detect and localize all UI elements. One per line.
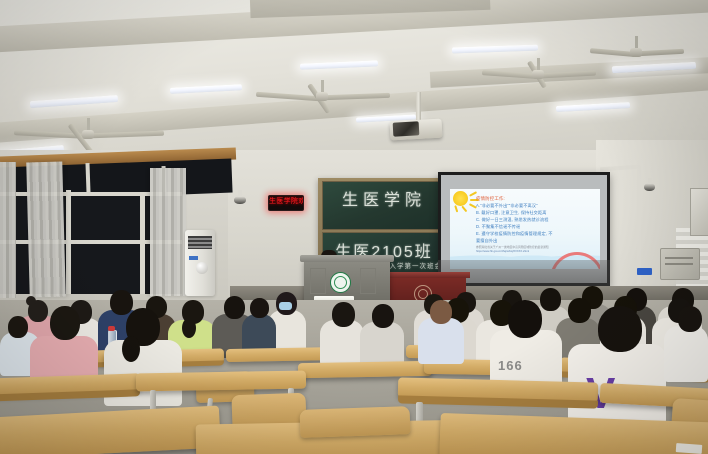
bottle-cap [108,326,115,331]
electrical-box [660,248,700,280]
slide-line: D. 不聚集不信谣不传谣 [476,224,520,230]
slide-line: A.“非必要不外出”“非必要不离汉” [476,203,538,209]
air-conditioner-badge [189,256,198,260]
chair-back [300,406,411,438]
security-camera-icon [234,196,246,204]
school-emblem-icon [330,272,351,293]
window-mullion [140,196,145,294]
blackboard-heading: 生医学院 [330,186,438,210]
podium-panel [310,268,326,294]
air-conditioner-grill [188,236,212,249]
student-desk [298,361,432,378]
shirt-graphic: 166 [498,358,523,373]
paper-on-desk [676,443,703,454]
slide-footer-note: 参照湖北省关于广州一类地区中高风险区域防控的最新通知 [476,245,549,249]
slide-line: C. 做好一日三测温, 熟悉发热就诊流程 [476,217,549,223]
wall-conduit [637,166,641,284]
classroom-photo: 生医学院欢迎您 生医学院 生医2105班 新生入学第一次班会 疫情防控工作: [0,0,708,454]
student-desk [136,371,306,392]
slide-footer-url: https://www.hb.gov.cn/zfwj/szfwj/XXXXX.s… [476,250,529,253]
curtain[interactable] [26,162,66,298]
electrical-panel [690,188,708,236]
slide-line: 要擅自外出 [476,238,497,244]
presentation-slide: 疫情防控工作: A.“非必要不外出”“非必要不离汉” B. 戴好口罩, 注意卫生… [450,189,600,269]
lecture-table-top [386,272,470,278]
slide-line: E. 遵守学校疫情防控和疫情管理规定, 不 [476,231,553,237]
led-scrolling-display: 生医学院欢迎您 [268,195,304,211]
slide-title: 疫情防控工作: [476,196,505,202]
blue-wall-sign [637,268,652,275]
projector-lens [393,121,420,136]
security-camera-icon [644,183,655,191]
air-conditioner-dial [196,262,208,274]
window-mullion [66,190,71,294]
sun-icon [453,191,468,206]
slide-line: B. 戴好口罩, 注意卫生, 保持社交距离 [476,210,547,216]
curtain[interactable] [0,162,16,298]
podium-top [300,255,394,262]
curtain[interactable] [150,168,186,296]
led-display-text: 生医学院欢迎您 [269,196,303,208]
podium-panel [360,268,376,294]
